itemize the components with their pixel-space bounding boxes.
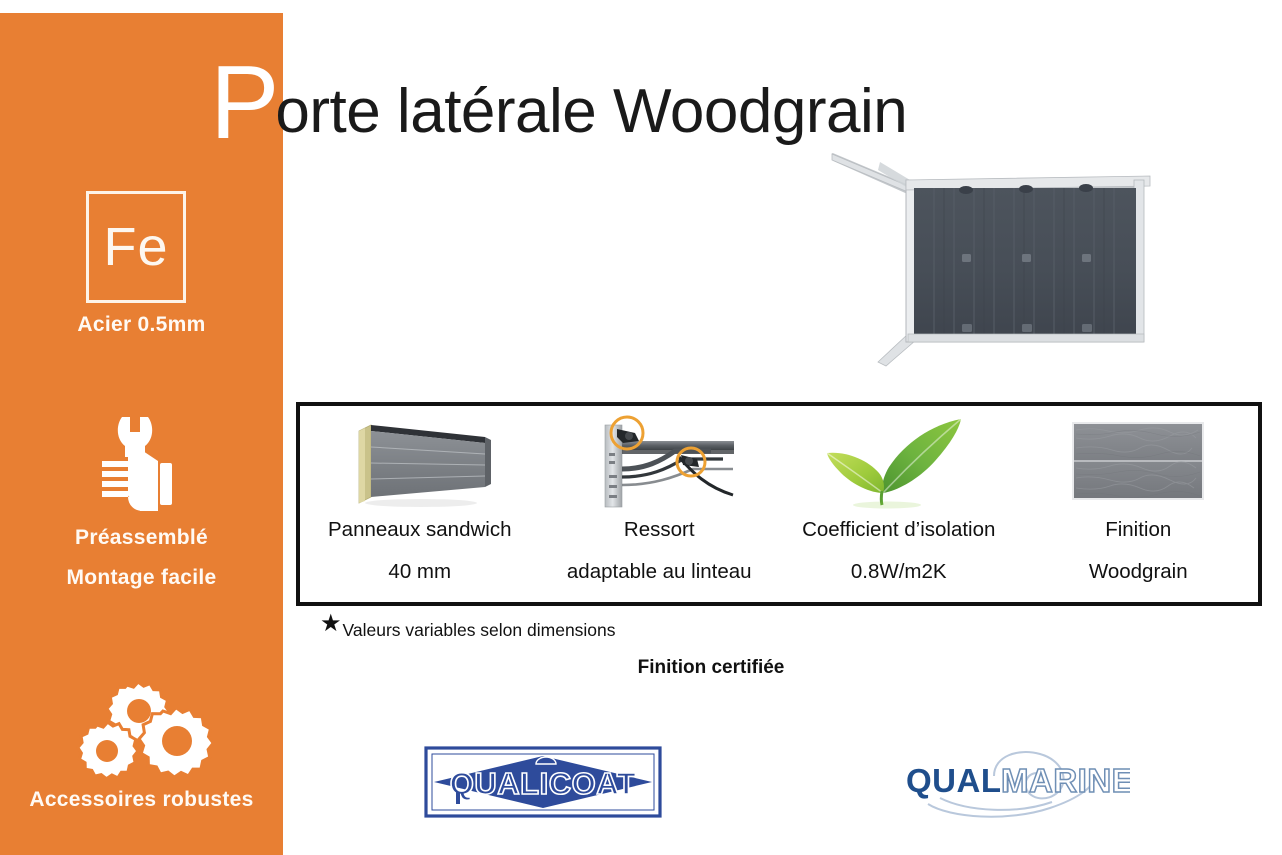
wrench-tool-icon (0, 415, 283, 519)
sidebar-label-accessories: Accessoires robustes (0, 788, 283, 812)
feature-label-primary: Coefficient d’isolation (802, 518, 995, 542)
feature-label-primary: Finition (1105, 518, 1171, 542)
qualicoat-wordmark: QUALICOAT (450, 766, 636, 801)
certification-heading: Finition certifiée (0, 657, 1282, 679)
feature-item-panel: Panneaux sandwich 40 mm (300, 406, 540, 602)
feature-label-primary: Ressort (624, 518, 695, 542)
qualimarine-wordmark-bold: QUALI (906, 762, 1011, 799)
feature-box: Panneaux sandwich 40 mm (296, 402, 1262, 606)
qualimarine-logo: QUALI MARINE (898, 742, 1130, 822)
feature-label-secondary: Woodgrain (1089, 560, 1188, 584)
gears-icon (0, 681, 283, 779)
sectional-garage-door-image (820, 140, 1200, 370)
feature-item-insulation: Coefficient d’isolation 0.8W/m2K (779, 406, 1019, 602)
feature-label-secondary: 40 mm (388, 560, 451, 584)
woodgrain-swatch-image (1068, 412, 1208, 510)
feature-item-finish: Finition Woodgrain (1019, 406, 1259, 602)
page-title-text: orte latérale Woodgrain (275, 76, 907, 147)
qualicoat-logo: QUALICOAT (424, 742, 662, 826)
fe-symbol-label: Fe (89, 194, 183, 300)
product-datasheet: Fe Acier 0.5mm (0, 0, 1282, 855)
page-title-initial: P (210, 56, 279, 152)
fe-element-box-icon: Fe (86, 191, 186, 303)
footnote: ★ Valeurs variables selon dimensions (320, 614, 616, 638)
sandwich-panel-image (345, 412, 495, 510)
green-leaves-icon (819, 412, 979, 510)
footnote-star-icon: ★ (320, 612, 342, 636)
sidebar-label-easy-mounting: Montage facile (0, 566, 283, 590)
feature-item-spring: Ressort adaptable au linteau (540, 406, 780, 602)
page-title: P orte latérale Woodgrain (210, 50, 907, 150)
qualimarine-wordmark-outline: MARINE (1001, 762, 1130, 799)
footnote-text: Valeurs variables selon dimensions (343, 620, 616, 641)
spring-mechanism-image (583, 412, 735, 510)
feature-label-primary: Panneaux sandwich (328, 518, 512, 542)
sidebar-label-preassembled: Préassemblé (0, 526, 283, 550)
sidebar-label-steel: Acier 0.5mm (0, 313, 283, 337)
feature-label-secondary: adaptable au linteau (567, 560, 752, 584)
feature-label-secondary: 0.8W/m2K (851, 560, 947, 584)
